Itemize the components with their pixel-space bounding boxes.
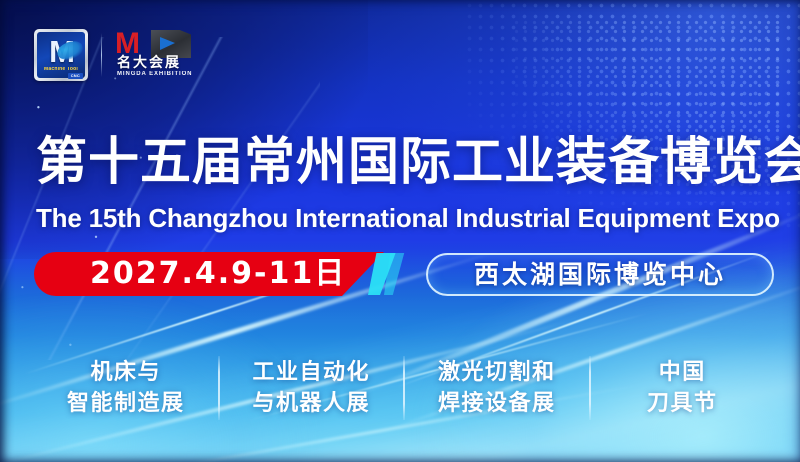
category-item-1: 工业自动化 与机器人展	[220, 360, 404, 416]
category-line-1: 中国	[659, 360, 706, 385]
category-item-2: 激光切割和 焊接设备展	[405, 360, 589, 416]
emblem-badge: CNC	[68, 73, 83, 79]
emblem-subtext: Machine Tool	[38, 67, 84, 72]
chevron-arrow-icon	[368, 253, 428, 295]
venue-pill: 西太湖国际博览中心	[426, 253, 774, 296]
category-line-1: 激光切割和	[438, 360, 556, 385]
poster-content: M Machine Tool CNC M 名大会展 MINGDA EXHIBIT…	[0, 0, 800, 462]
category-line-2: 焊接设备展	[438, 391, 556, 416]
category-item-3: 中国 刀具节	[591, 360, 775, 416]
event-info-row: 2027.4.9-11日 西太湖国际博览中心	[34, 252, 774, 298]
category-line-2: 与机器人展	[252, 391, 370, 416]
category-line-2: 智能制造展	[67, 391, 185, 416]
event-venue: 西太湖国际博览中心	[474, 262, 726, 287]
logo-row: M Machine Tool CNC M 名大会展 MINGDA EXHIBIT…	[34, 29, 233, 81]
page-title: 第十五届常州国际工业装备博览会	[36, 133, 776, 192]
mingda-name-en: MINGDA EXHIBITION	[117, 71, 192, 78]
expo-poster: M Machine Tool CNC M 名大会展 MINGDA EXHIBIT…	[0, 0, 800, 462]
category-line-1: 机床与	[90, 360, 161, 385]
logo-divider	[101, 33, 102, 77]
category-line-2: 刀具节	[647, 391, 718, 416]
event-date: 2027.4.9-11日	[90, 259, 346, 289]
date-banner: 2027.4.9-11日	[34, 252, 384, 296]
mingda-name-cn: 名大会展	[117, 55, 181, 70]
chevron-bar-2	[384, 253, 428, 295]
machine-tool-emblem-icon: M Machine Tool CNC	[34, 29, 88, 81]
mingda-exhibition-logo-icon: M 名大会展 MINGDA EXHIBITION	[115, 29, 233, 81]
page-subtitle: The 15th Changzhou International Industr…	[36, 202, 796, 234]
category-item-0: 机床与 智能制造展	[34, 360, 218, 416]
category-line-1: 工业自动化	[252, 360, 370, 385]
category-row: 机床与 智能制造展 工业自动化 与机器人展 激光切割和 焊接设备展 中国 刀具节	[34, 352, 774, 424]
